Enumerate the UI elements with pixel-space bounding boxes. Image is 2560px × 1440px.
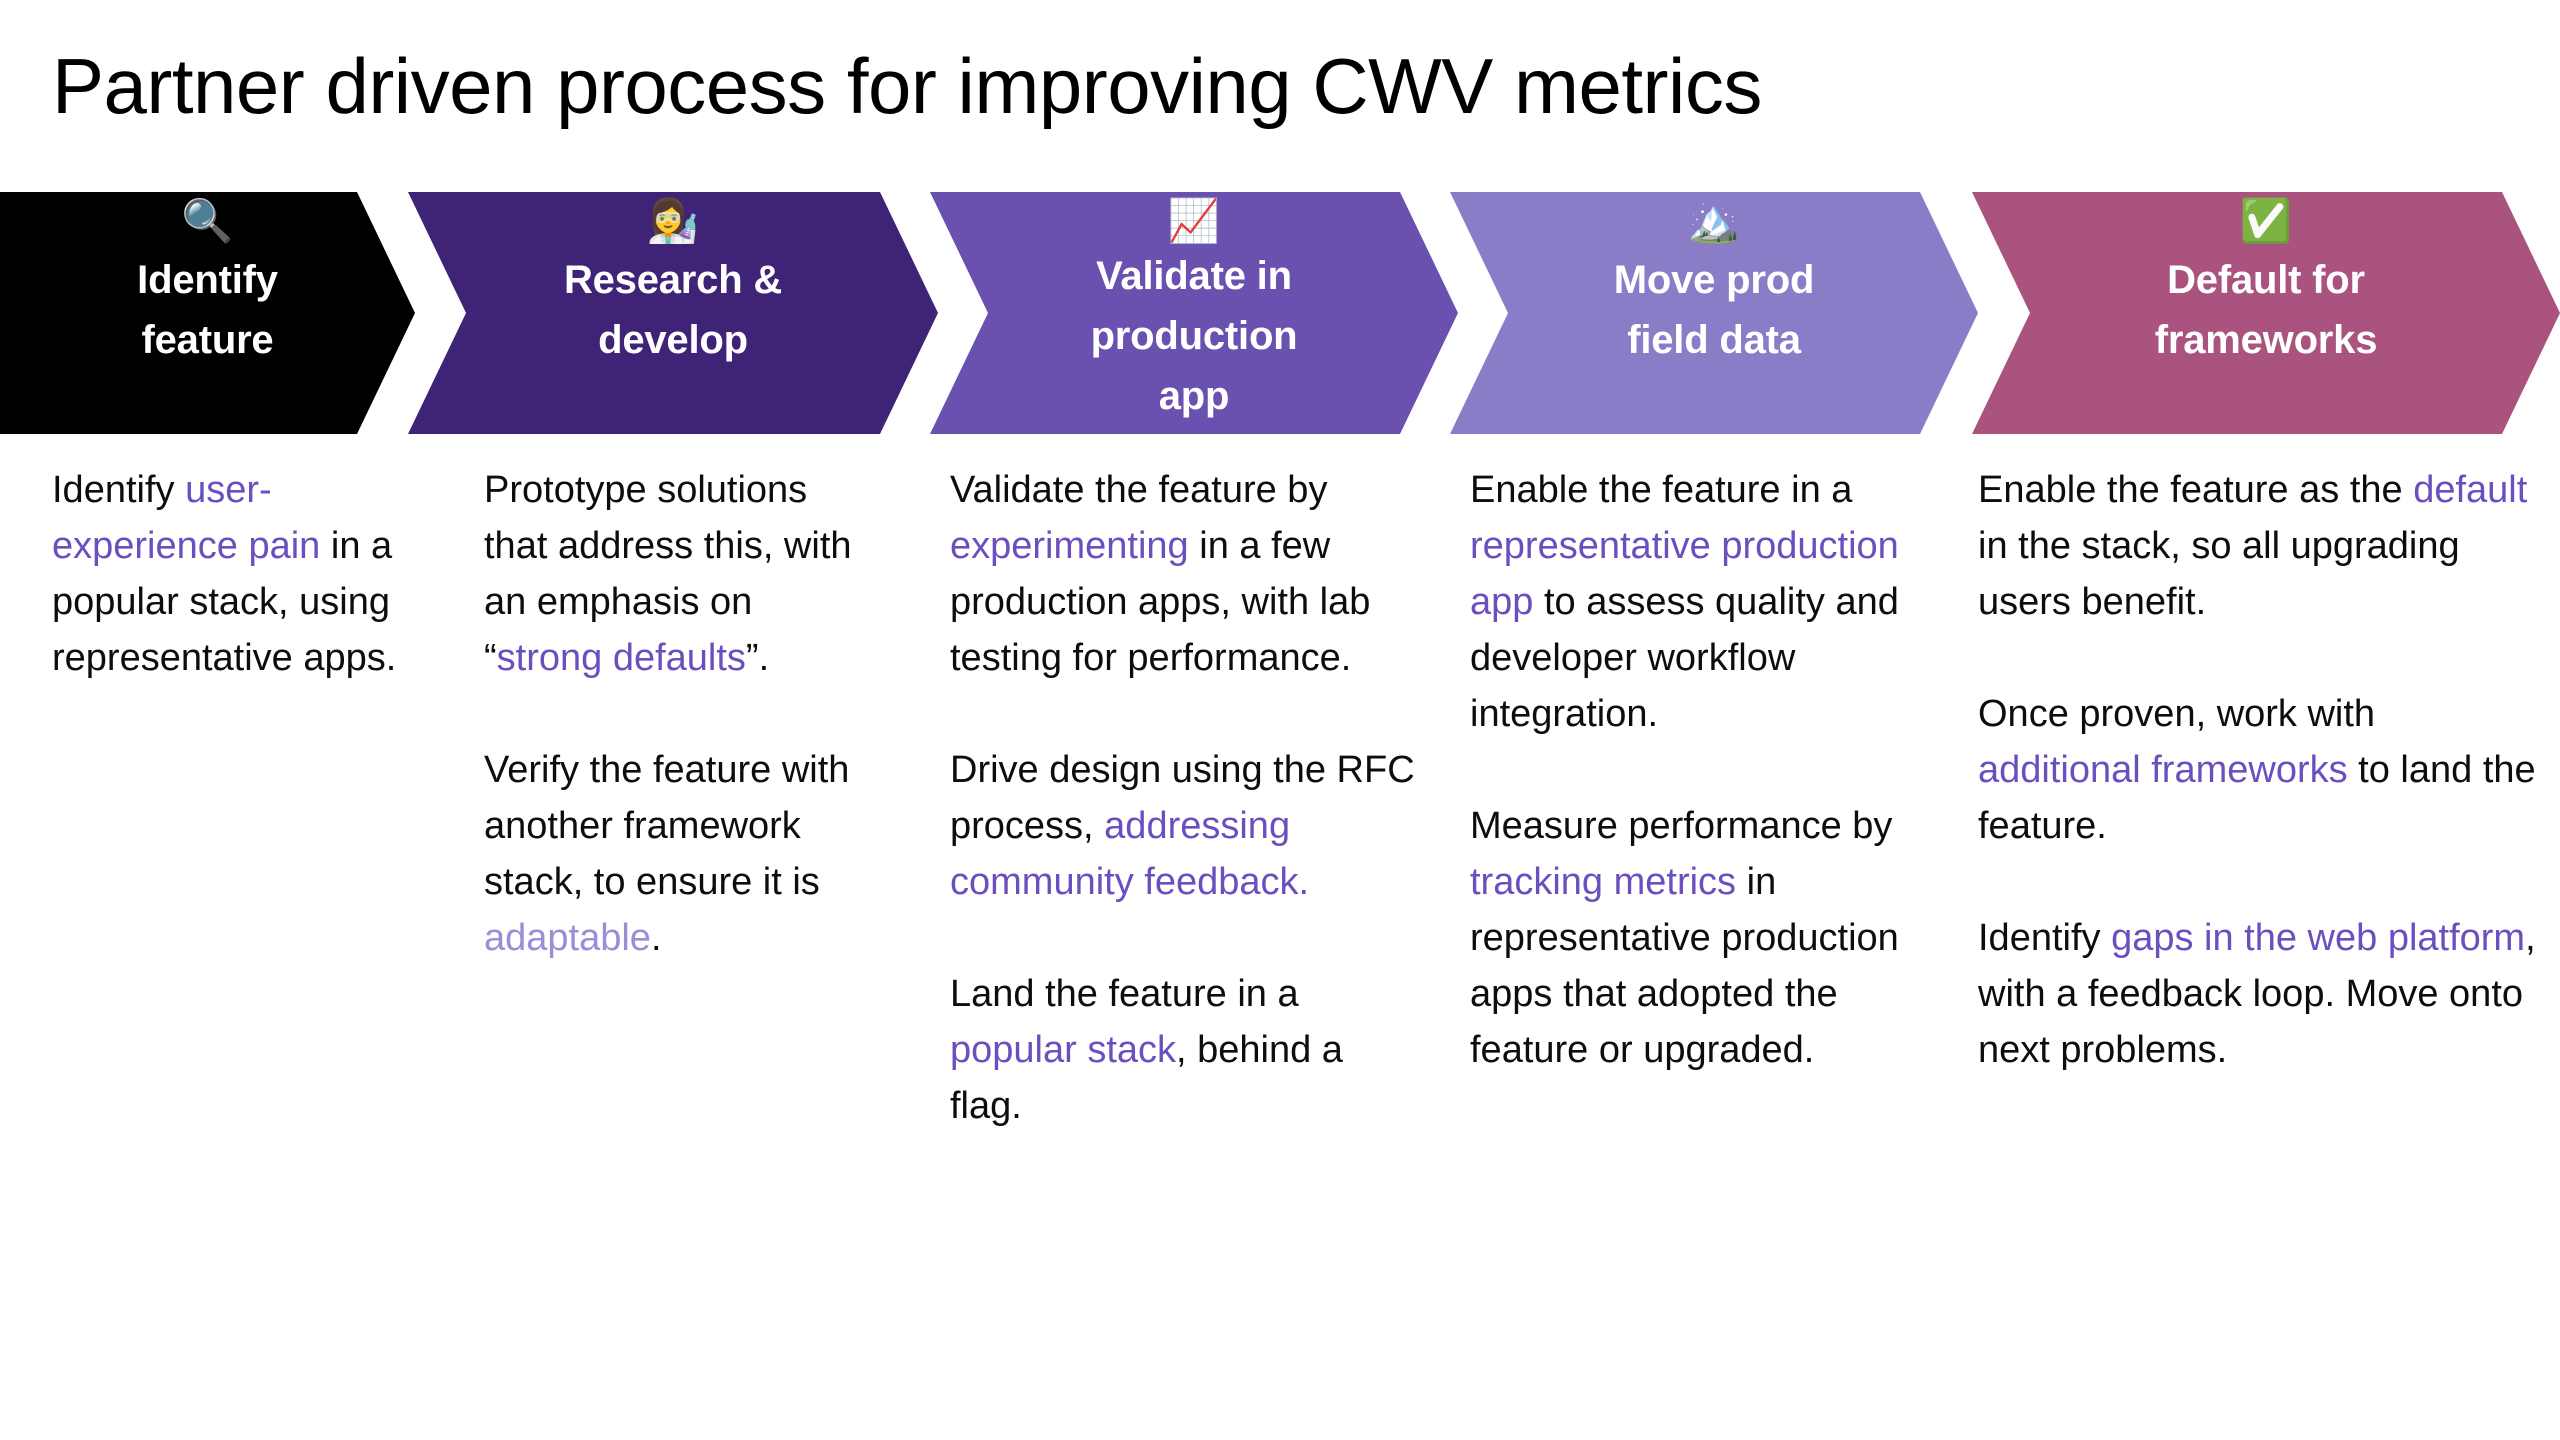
- identify-feature-body: Identify user-experience pain in a popul…: [52, 462, 412, 686]
- chevron-label-research-develop: Research &develop: [554, 250, 792, 370]
- paragraph: Identify gaps in the web platform, with …: [1978, 910, 2538, 1078]
- highlight-text[interactable]: strong defaults: [497, 637, 746, 679]
- body-text: Validate the feature by: [950, 469, 1327, 511]
- body-text: Verify the feature with another framewor…: [484, 749, 849, 903]
- chevron-identify-feature[interactable]: 🔍Identifyfeature: [0, 192, 415, 434]
- body-text: .: [651, 917, 662, 959]
- body-text: Identify: [52, 469, 185, 511]
- check-mark-button-icon: ✅: [2240, 198, 2292, 246]
- paragraph: Identify user-experience pain in a popul…: [52, 462, 412, 686]
- move-prod-field-data-body: Enable the feature in a representative p…: [1470, 462, 1920, 1078]
- magnifying-glass-icon: 🔍: [181, 198, 233, 246]
- chevron-default-for-frameworks[interactable]: ✅Default forframeworks: [1972, 192, 2560, 434]
- paragraph: Enable the feature in a representative p…: [1470, 462, 1920, 742]
- body-text: Land the feature in a: [950, 973, 1299, 1015]
- highlight-text-light[interactable]: adaptable: [484, 917, 651, 959]
- paragraph: Validate the feature by experimenting in…: [950, 462, 1420, 686]
- paragraph: Drive design using the RFC process, addr…: [950, 742, 1420, 910]
- chevron-move-prod-field-data[interactable]: 🏔️Move prodfield data: [1450, 192, 1978, 434]
- research-develop-body: Prototype solutions that address this, w…: [484, 462, 874, 966]
- highlight-text[interactable]: experimenting: [950, 525, 1189, 567]
- slide-root: Partner driven process for improving CWV…: [0, 0, 2560, 1440]
- default-for-frameworks-body: Enable the feature as the default in the…: [1978, 462, 2538, 1078]
- body-text: to assess quality and developer workflow…: [1470, 581, 1899, 735]
- body-text: Enable the feature as the: [1978, 469, 2413, 511]
- page-title: Partner driven process for improving CWV…: [52, 38, 1762, 134]
- process-chevron-band: 🔍Identifyfeature👩‍🔬Research &develop📈Val…: [0, 192, 2560, 434]
- paragraph: Enable the feature as the default in the…: [1978, 462, 2538, 630]
- highlight-text[interactable]: default: [2413, 469, 2527, 511]
- paragraph: Land the feature in a popular stack, beh…: [950, 966, 1420, 1134]
- body-text: Once proven, work with: [1978, 693, 2375, 735]
- chart-increasing-icon: 📈: [1168, 198, 1220, 246]
- chevron-label-validate-in-production-app: Validate inproductionapp: [1081, 246, 1308, 426]
- process-description-columns: Identify user-experience pain in a popul…: [0, 462, 2560, 1342]
- validate-in-production-app-body: Validate the feature by experimenting in…: [950, 462, 1420, 1134]
- chevron-label-identify-feature: Identifyfeature: [127, 250, 288, 370]
- highlight-text[interactable]: additional frameworks: [1978, 749, 2348, 791]
- body-text: ”.: [746, 637, 769, 679]
- highlight-text[interactable]: tracking metrics: [1470, 861, 1736, 903]
- paragraph: Once proven, work with additional framew…: [1978, 686, 2538, 854]
- scientist-icon: 👩‍🔬: [647, 198, 699, 246]
- body-text: Identify: [1978, 917, 2111, 959]
- body-text: Measure performance by: [1470, 805, 1892, 847]
- paragraph: Prototype solutions that address this, w…: [484, 462, 874, 686]
- chevron-label-move-prod-field-data: Move prodfield data: [1604, 250, 1824, 370]
- mountain-icon: 🏔️: [1688, 198, 1740, 246]
- chevron-research-develop[interactable]: 👩‍🔬Research &develop: [408, 192, 938, 434]
- body-text: Enable the feature in a: [1470, 469, 1852, 511]
- chevron-validate-in-production-app[interactable]: 📈Validate inproductionapp: [930, 192, 1458, 434]
- paragraph: Measure performance by tracking metrics …: [1470, 798, 1920, 1078]
- highlight-text[interactable]: gaps in the web platform: [2111, 917, 2525, 959]
- chevron-label-default-for-frameworks: Default forframeworks: [2145, 250, 2388, 370]
- highlight-text[interactable]: popular stack: [950, 1029, 1176, 1071]
- paragraph: Verify the feature with another framewor…: [484, 742, 874, 966]
- body-text: in the stack, so all upgrading users ben…: [1978, 525, 2460, 623]
